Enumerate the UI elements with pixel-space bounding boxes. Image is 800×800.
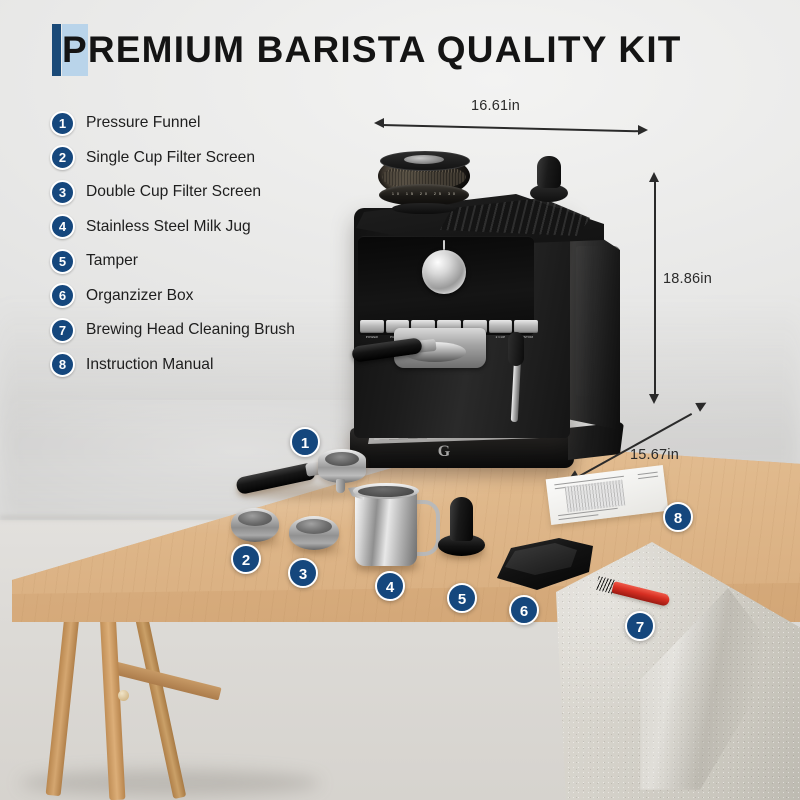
legend-badge: 3	[50, 180, 75, 205]
steam-wand-grip	[508, 332, 524, 366]
callout-badge-1: 1	[290, 427, 320, 457]
legend-item-5: 5 Tamper	[50, 244, 350, 279]
legend-label: Single Cup Filter Screen	[86, 149, 255, 167]
legend-label: Double Cup Filter Screen	[86, 183, 261, 201]
legend-badge: 1	[50, 111, 75, 136]
legend-label: Tamper	[86, 252, 138, 270]
legend-item-3: 3 Double Cup Filter Screen	[50, 175, 350, 210]
callout-badge-8: 8	[663, 502, 693, 532]
grind-size-scale: 10 15 20 25 30	[392, 190, 456, 198]
pressure-funnel-basket-inner	[325, 452, 359, 466]
callout-badge-7: 7	[625, 611, 655, 641]
height-label: 18.86in	[663, 271, 712, 287]
callout-badge-3: 3	[288, 558, 318, 588]
control-button	[360, 320, 384, 333]
steam-selector-knob	[535, 156, 563, 210]
callout-badge-2: 2	[231, 544, 261, 574]
hopper-base	[392, 203, 456, 214]
legend-item-1: 1 Pressure Funnel	[50, 106, 350, 141]
legend-item-8: 8 Instruction Manual	[50, 348, 350, 383]
tamper-handle	[450, 497, 473, 541]
width-label: 16.61in	[471, 98, 520, 114]
espresso-machine: G 10 15 20 25 30	[330, 150, 630, 480]
legend-badge: 4	[50, 214, 75, 239]
callout-badge-5: 5	[447, 583, 477, 613]
page-title: PREMIUM BARISTA QUALITY KIT	[62, 25, 682, 75]
milk-jug-interior	[358, 486, 414, 497]
water-tank	[576, 246, 620, 396]
parts-legend: 1 Pressure Funnel 2 Single Cup Filter Sc…	[50, 106, 350, 382]
hopper-lid-knob	[404, 155, 444, 164]
single-cup-filter-inner	[238, 511, 272, 526]
pressure-funnel-spout	[336, 479, 345, 493]
legend-badge: 7	[50, 318, 75, 343]
dial-indicator	[443, 240, 445, 250]
callout-badge-4: 4	[375, 571, 405, 601]
table-leg-screw	[118, 690, 129, 701]
legend-item-7: 7 Brewing Head Cleaning Brush	[50, 313, 350, 348]
brand-logo: G	[434, 442, 454, 462]
legend-item-2: 2 Single Cup Filter Screen	[50, 141, 350, 176]
legend-badge: 5	[50, 249, 75, 274]
legend-badge: 6	[50, 283, 75, 308]
product-infographic: G 10 15 20 25 30	[0, 0, 800, 800]
legend-label: Organzizer Box	[86, 287, 193, 305]
bean-grinder-hopper: 10 15 20 25 30	[378, 154, 470, 212]
callout-badge-6: 6	[509, 595, 539, 625]
legend-label: Brewing Head Cleaning Brush	[86, 321, 295, 339]
steam-knob-top	[537, 156, 561, 188]
legend-item-4: 4 Stainless Steel Milk Jug	[50, 210, 350, 245]
control-button	[489, 320, 513, 333]
legend-label: Instruction Manual	[86, 356, 213, 374]
legend-badge: 8	[50, 352, 75, 377]
stainless-steel-milk-jug	[355, 488, 417, 566]
double-cup-filter-inner	[296, 519, 332, 534]
title-accent-dark	[52, 24, 61, 76]
depth-label: 15.67in	[630, 447, 679, 463]
button-label: POWER	[360, 333, 384, 342]
legend-label: Pressure Funnel	[86, 114, 200, 132]
legend-label: Stainless Steel Milk Jug	[86, 218, 251, 236]
control-button	[514, 320, 538, 333]
legend-item-6: 6 Organzizer Box	[50, 279, 350, 314]
pressure-dial	[422, 250, 466, 294]
legend-badge: 2	[50, 145, 75, 170]
